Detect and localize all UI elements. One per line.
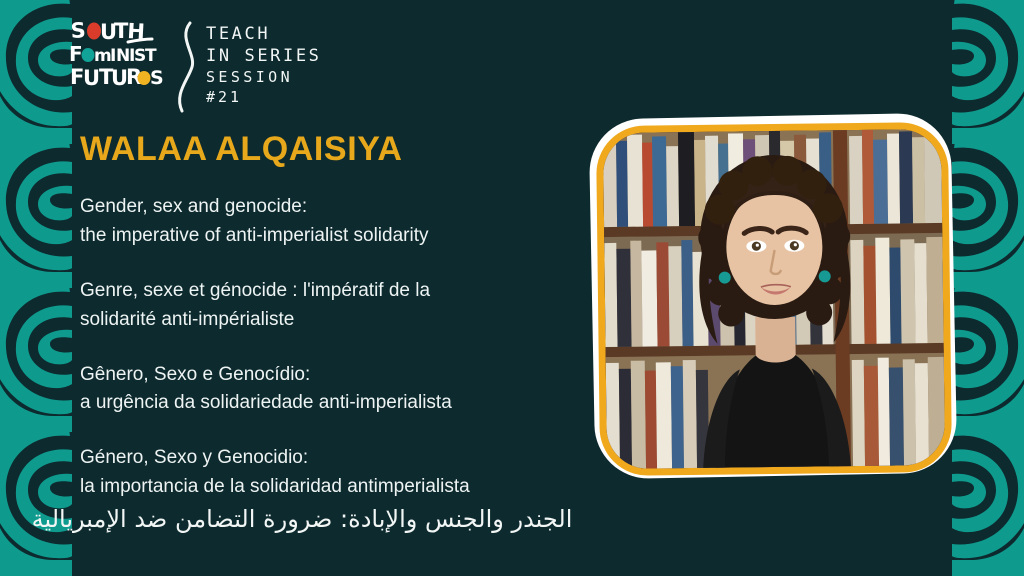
title-group-portuguese: Gênero, Sexo e Genocídio: a urgência da … (80, 361, 600, 419)
title-line: Genre, sexe et génocide : l'impératif de… (80, 277, 600, 306)
svg-text:S: S (70, 18, 86, 43)
left-decorative-border (0, 0, 72, 576)
title-line: la importancia de la solidaridad antimpe… (80, 473, 600, 502)
presentation-slide: S U T H F m I N I S T (0, 0, 1024, 576)
title-group-french: Genre, sexe et génocide : l'impératif de… (80, 277, 600, 335)
svg-text:U: U (83, 66, 100, 90)
svg-text:F: F (69, 42, 83, 66)
south-feminist-futures-logo[interactable]: S U T H F m I N I S T (68, 18, 164, 102)
title-line: Gender, sex and genocide: (80, 193, 600, 222)
title-line: the imperative of anti-imperialist solid… (80, 222, 600, 251)
series-line-session: SESSION (206, 68, 322, 87)
portrait-photo (601, 127, 947, 471)
portrait-frame (596, 122, 952, 476)
teach-in-series-label: TEACH IN SERIES SESSION #21 (206, 24, 322, 107)
title-line: solidarité anti-impérialiste (80, 306, 600, 335)
speaker-portrait (592, 116, 954, 476)
series-line-in-series: IN SERIES (206, 46, 322, 68)
series-line-number: #21 (206, 88, 322, 107)
talk-titles: Gender, sex and genocide: the imperative… (80, 193, 600, 502)
title-group-arabic: الجندر والجنس والإبادة: ضرورة التضامن ضد… (0, 505, 1024, 533)
slide-header: S U T H F m I N I S T (68, 18, 322, 114)
right-decorative-border (952, 0, 1024, 576)
curly-brace-divider-icon (170, 20, 204, 114)
title-line: Género, Sexo y Genocidio: (80, 444, 600, 473)
speaker-name: WALAA ALQAISIYA (80, 130, 403, 169)
title-group-english: Gender, sex and genocide: the imperative… (80, 193, 600, 251)
title-line: Gênero, Sexo e Genocídio: (80, 361, 600, 390)
svg-text:S: S (150, 67, 164, 89)
svg-text:T: T (145, 46, 157, 66)
series-line-teach: TEACH (206, 24, 322, 46)
title-group-spanish: Género, Sexo y Genocidio: la importancia… (80, 444, 600, 502)
title-line: a urgência da solidariedade anti-imperia… (80, 389, 600, 418)
